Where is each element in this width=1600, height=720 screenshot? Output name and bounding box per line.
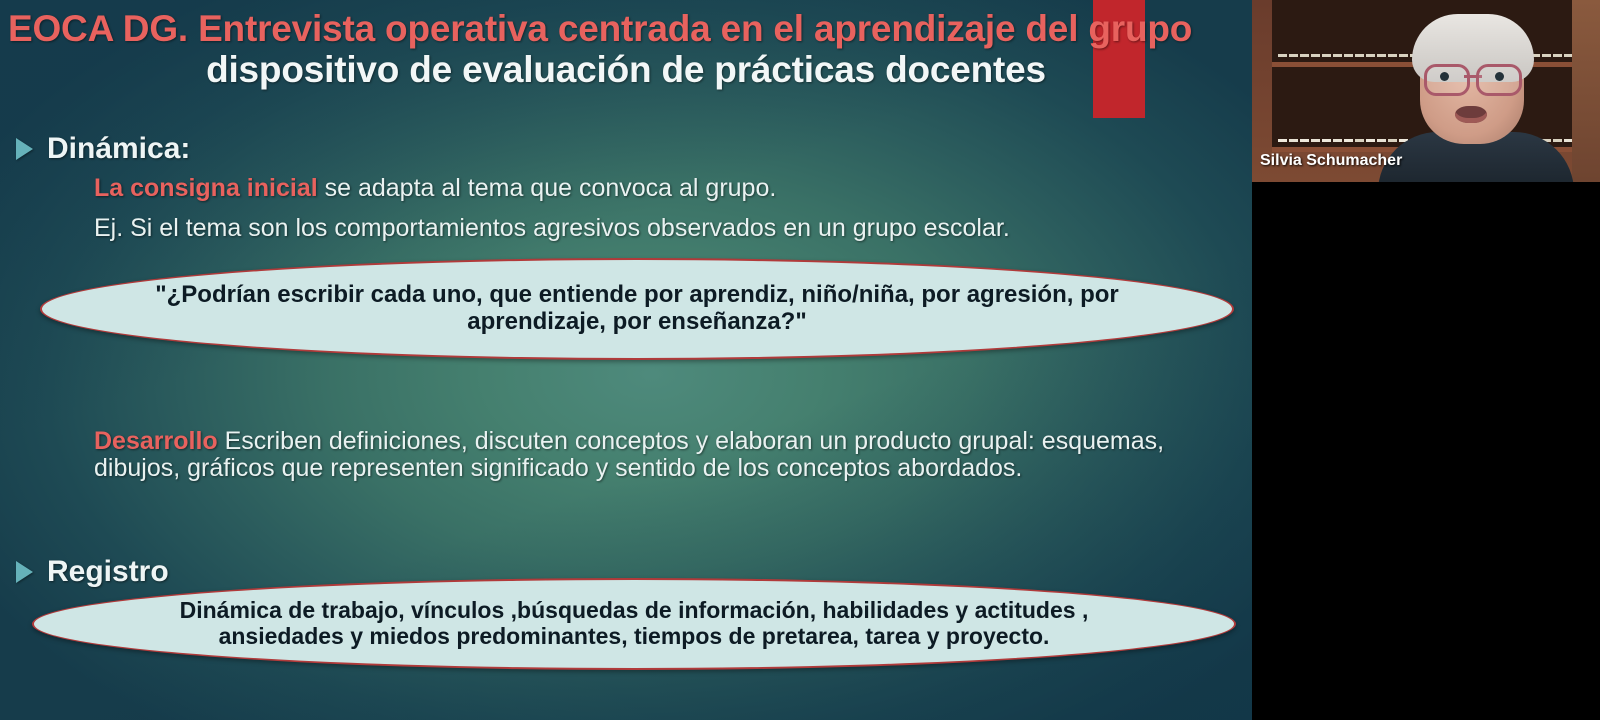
title-acronym: EOCA DG [8, 8, 178, 49]
ellipse-registro-line-2: ansiedades y miedos predominantes, tiemp… [180, 624, 1089, 650]
ellipse-registro-items: Dinámica de trabajo, vínculos ,búsquedas… [32, 578, 1236, 670]
paragraph-desarrollo: Desarrollo Escriben definiciones, discut… [94, 428, 1204, 481]
text-consigna-inicial: La consigna inicial se adapta al tema qu… [94, 174, 776, 203]
bullet-dinamica: Dinámica: [0, 132, 190, 166]
participant-eye-right [1495, 72, 1504, 81]
text-ejemplo: Ej. Si el tema son los comportamientos a… [94, 214, 1010, 243]
triangle-bullet-icon [16, 138, 33, 160]
emphasis-consigna-inicial: La consigna inicial [94, 174, 318, 202]
ellipse-registro-line-1: Dinámica de trabajo, vínculos ,búsquedas… [180, 598, 1089, 624]
bullet-label-dinamica: Dinámica: [47, 132, 190, 166]
emphasis-desarrollo: Desarrollo [94, 427, 218, 455]
paragraph-desarrollo-text: Escriben definiciones, discuten concepto… [94, 427, 1164, 482]
ellipse-consigna-line-2: aprendizaje, por enseñanza?" [155, 309, 1119, 336]
ellipse-consigna-text: "¿Podrían escribir cada uno, que entiend… [95, 282, 1179, 336]
video-panel: Silvia Schumacher [1252, 0, 1600, 720]
participant-eye-left [1440, 72, 1449, 81]
participant-name-label: Silvia Schumacher [1260, 152, 1402, 170]
slide-title: EOCA DG. Entrevista operativa centrada e… [0, 8, 1252, 91]
presentation-slide: EOCA DG. Entrevista operativa centrada e… [0, 0, 1252, 720]
title-line-2: dispositivo de evaluación de prácticas d… [0, 49, 1252, 90]
participant-mouth [1455, 106, 1487, 123]
title-line-1: EOCA DG. Entrevista operativa centrada e… [0, 8, 1252, 49]
text-consigna-inicial-rest: se adapta al tema que convoca al grupo. [318, 174, 777, 202]
participant-video-tile[interactable]: Silvia Schumacher [1252, 0, 1600, 182]
screen-share-view: EOCA DG. Entrevista operativa centrada e… [0, 0, 1600, 720]
eyeglasses-icon [1424, 64, 1522, 90]
bullet-registro: Registro [0, 555, 169, 589]
wall-panel [1572, 0, 1600, 182]
ellipse-consigna-quote: "¿Podrían escribir cada uno, que entiend… [40, 258, 1234, 360]
ellipse-consigna-line-1: "¿Podrían escribir cada uno, que entiend… [155, 282, 1119, 309]
ellipse-registro-text: Dinámica de trabajo, vínculos ,búsquedas… [120, 598, 1149, 650]
title-line-1-rest: . Entrevista operativa centrada en el ap… [178, 8, 1192, 49]
triangle-bullet-icon [16, 561, 33, 583]
bullet-label-registro: Registro [47, 555, 169, 589]
